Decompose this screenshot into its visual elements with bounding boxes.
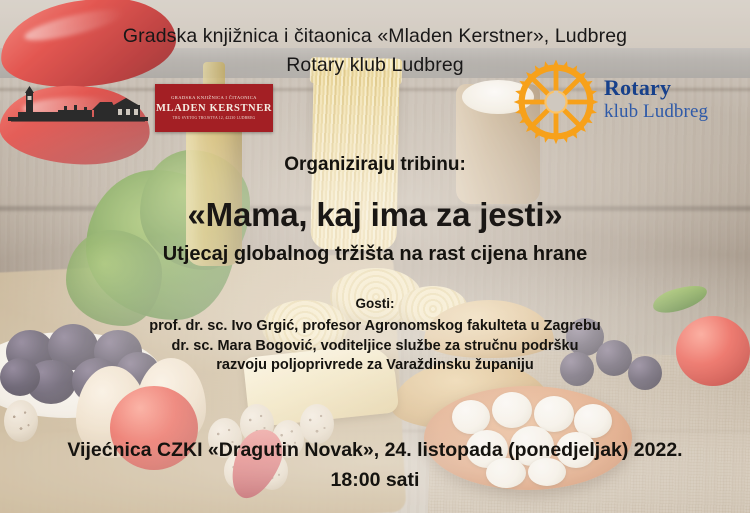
rotary-logo: Rotary klub Ludbreg	[512, 58, 727, 140]
rotary-logo-line-1: Rotary	[604, 76, 708, 101]
header-line-1: Gradska knjižnica i čitaonica «Mladen Ke…	[0, 22, 750, 51]
library-logo-top-line: GRADSKA KNJIŽNICA I ČITAONICA	[171, 96, 257, 101]
poster-content: Gradska knjižnica i čitaonica «Mladen Ke…	[0, 0, 750, 513]
guest-line: razvoju poljoprivrede za Varaždinsku žup…	[0, 356, 750, 376]
guests-label: Gosti:	[0, 296, 750, 311]
library-logo-bottom-line: TRG SVETOG TROJSTVA 12, 42230 LUDBREG	[173, 117, 256, 121]
rotary-logo-line-2: klub Ludbreg	[604, 101, 708, 122]
guest-line: dr. sc. Mara Bogović, voditeljice službe…	[0, 337, 750, 357]
intro-text: Organiziraju tribinu:	[0, 154, 750, 176]
guest-line: prof. dr. sc. Ivo Grgić, profesor Agrono…	[0, 317, 750, 337]
event-venue-date: Vijećnica CZKI «Dragutin Novak», 24. lis…	[0, 435, 750, 465]
rotary-wheel-icon	[512, 58, 600, 146]
event-poster: Gradska knjižnica i čitaonica «Mladen Ke…	[0, 0, 750, 513]
rotary-logo-text: Rotary klub Ludbreg	[604, 76, 708, 122]
event-details: Vijećnica CZKI «Dragutin Novak», 24. lis…	[0, 435, 750, 495]
library-logo: GRADSKA KNJIŽNICA I ČITAONICA MLADEN KER…	[155, 84, 273, 132]
library-logo-name: MLADEN KERSTNER	[156, 103, 272, 114]
poster-title: «Mama, kaj ima za jesti»	[0, 196, 750, 234]
event-time: 18:00 sati	[0, 465, 750, 495]
poster-subtitle: Utjecaj globalnog tržišta na rast cijena…	[0, 243, 750, 266]
town-silhouette-logo	[8, 86, 148, 130]
guests-list: prof. dr. sc. Ivo Grgić, profesor Agrono…	[0, 317, 750, 376]
